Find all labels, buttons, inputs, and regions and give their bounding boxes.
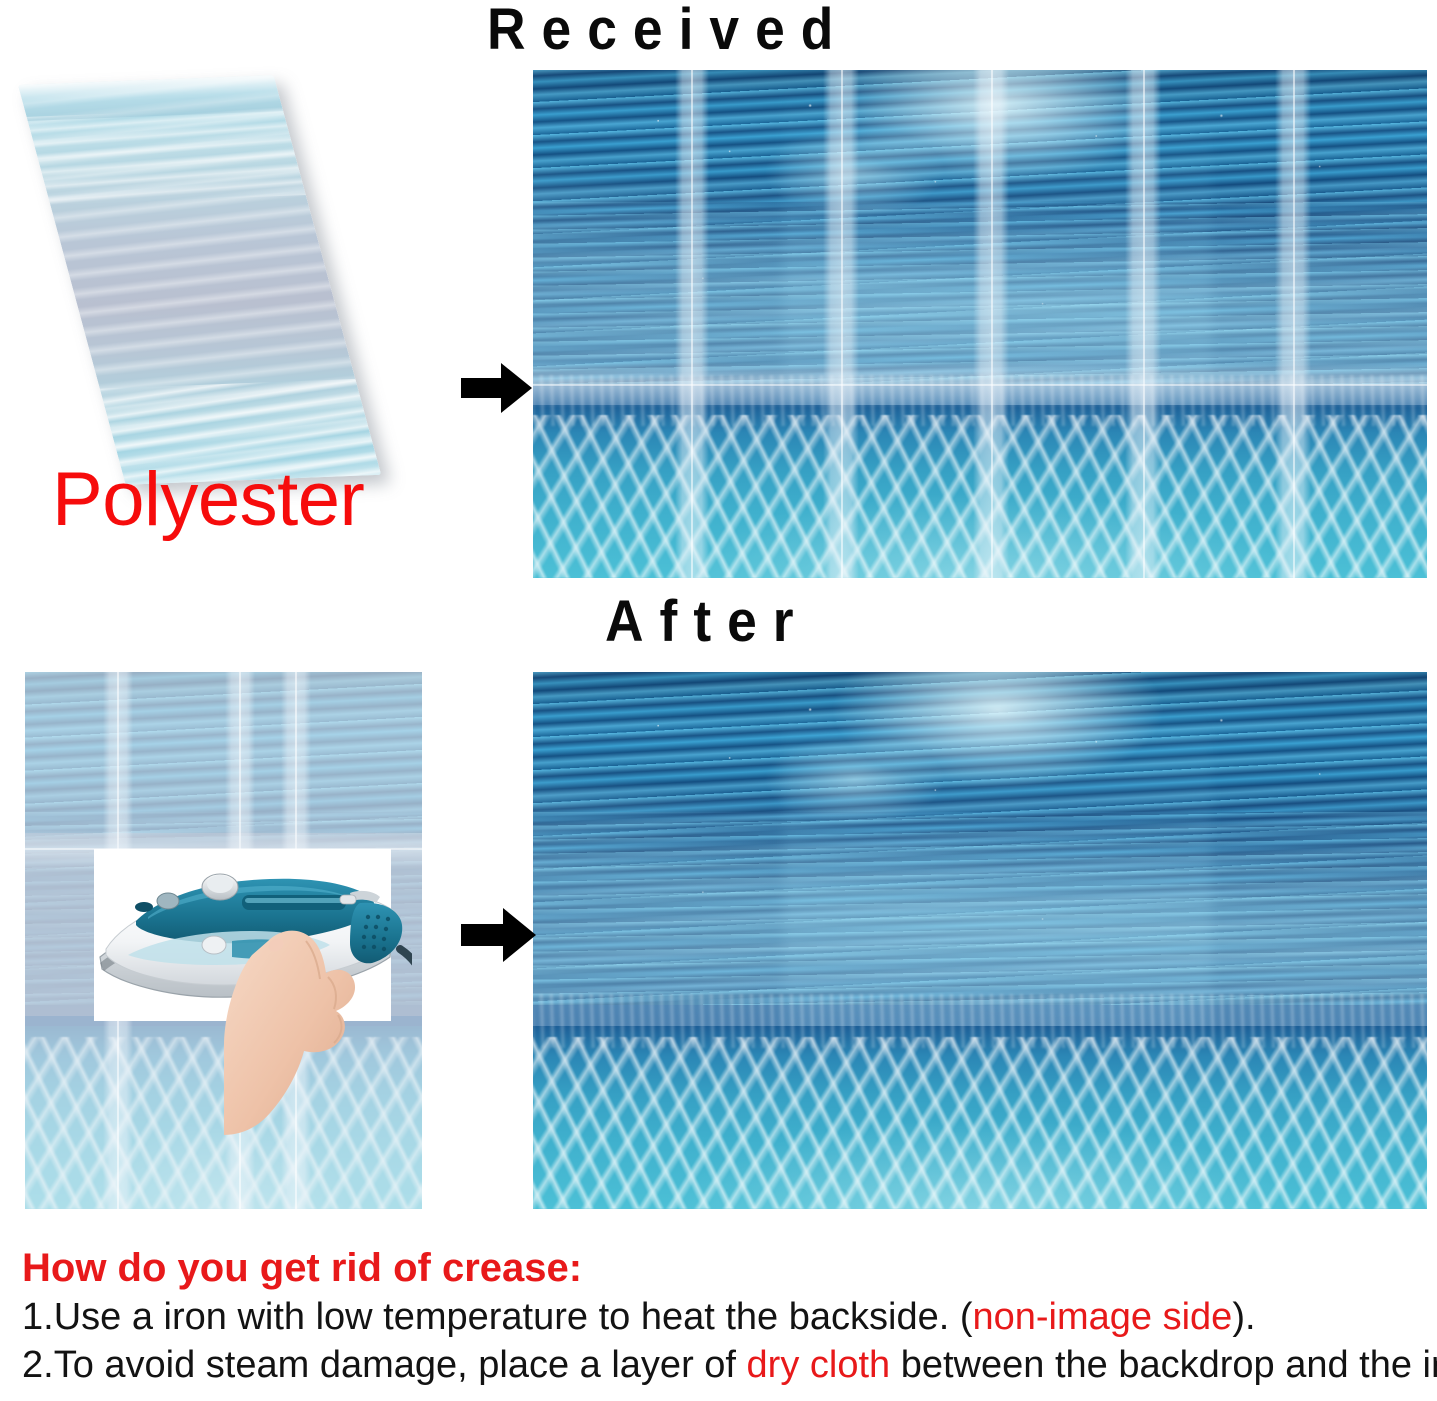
care-line-2-part-2: between the backdrop and the iron. xyxy=(890,1344,1437,1386)
after-backdrop-photo xyxy=(533,672,1427,1209)
underwater-scene xyxy=(533,672,1427,1209)
heading-after: After xyxy=(605,588,810,655)
fabric-ripple-band-top xyxy=(18,106,321,205)
care-instruction-line-1: 1.Use a iron with low temperature to hea… xyxy=(22,1294,1432,1340)
care-line-1-part-2: ). xyxy=(1232,1296,1255,1338)
care-line-2-part-1: 2.To avoid steam damage, place a layer o… xyxy=(22,1344,747,1386)
care-instruction-line-2: 2.To avoid steam damage, place a layer o… xyxy=(22,1342,1432,1388)
bubbles xyxy=(533,70,1427,578)
heading-received: Received xyxy=(487,0,849,63)
care-line-2-highlight: dry cloth xyxy=(747,1344,891,1386)
iron-demo-photo xyxy=(94,849,391,1021)
care-line-1-highlight: non-image side xyxy=(972,1296,1232,1338)
polyester-label: Polyester xyxy=(52,456,364,543)
bubbles xyxy=(533,672,1427,1209)
arrow-right-icon xyxy=(461,906,537,969)
care-line-1-part-1: 1.Use a iron with low temperature to hea… xyxy=(22,1296,972,1338)
underwater-scene xyxy=(533,70,1427,578)
steam-iron-icon xyxy=(92,845,412,1135)
care-instructions-title: How do you get rid of crease: xyxy=(22,1246,1432,1292)
polyester-fabric-swatch xyxy=(18,75,381,485)
arrow-right-icon xyxy=(461,361,533,420)
care-instructions: How do you get rid of crease: 1.Use a ir… xyxy=(22,1246,1432,1388)
received-backdrop-photo xyxy=(533,70,1427,578)
